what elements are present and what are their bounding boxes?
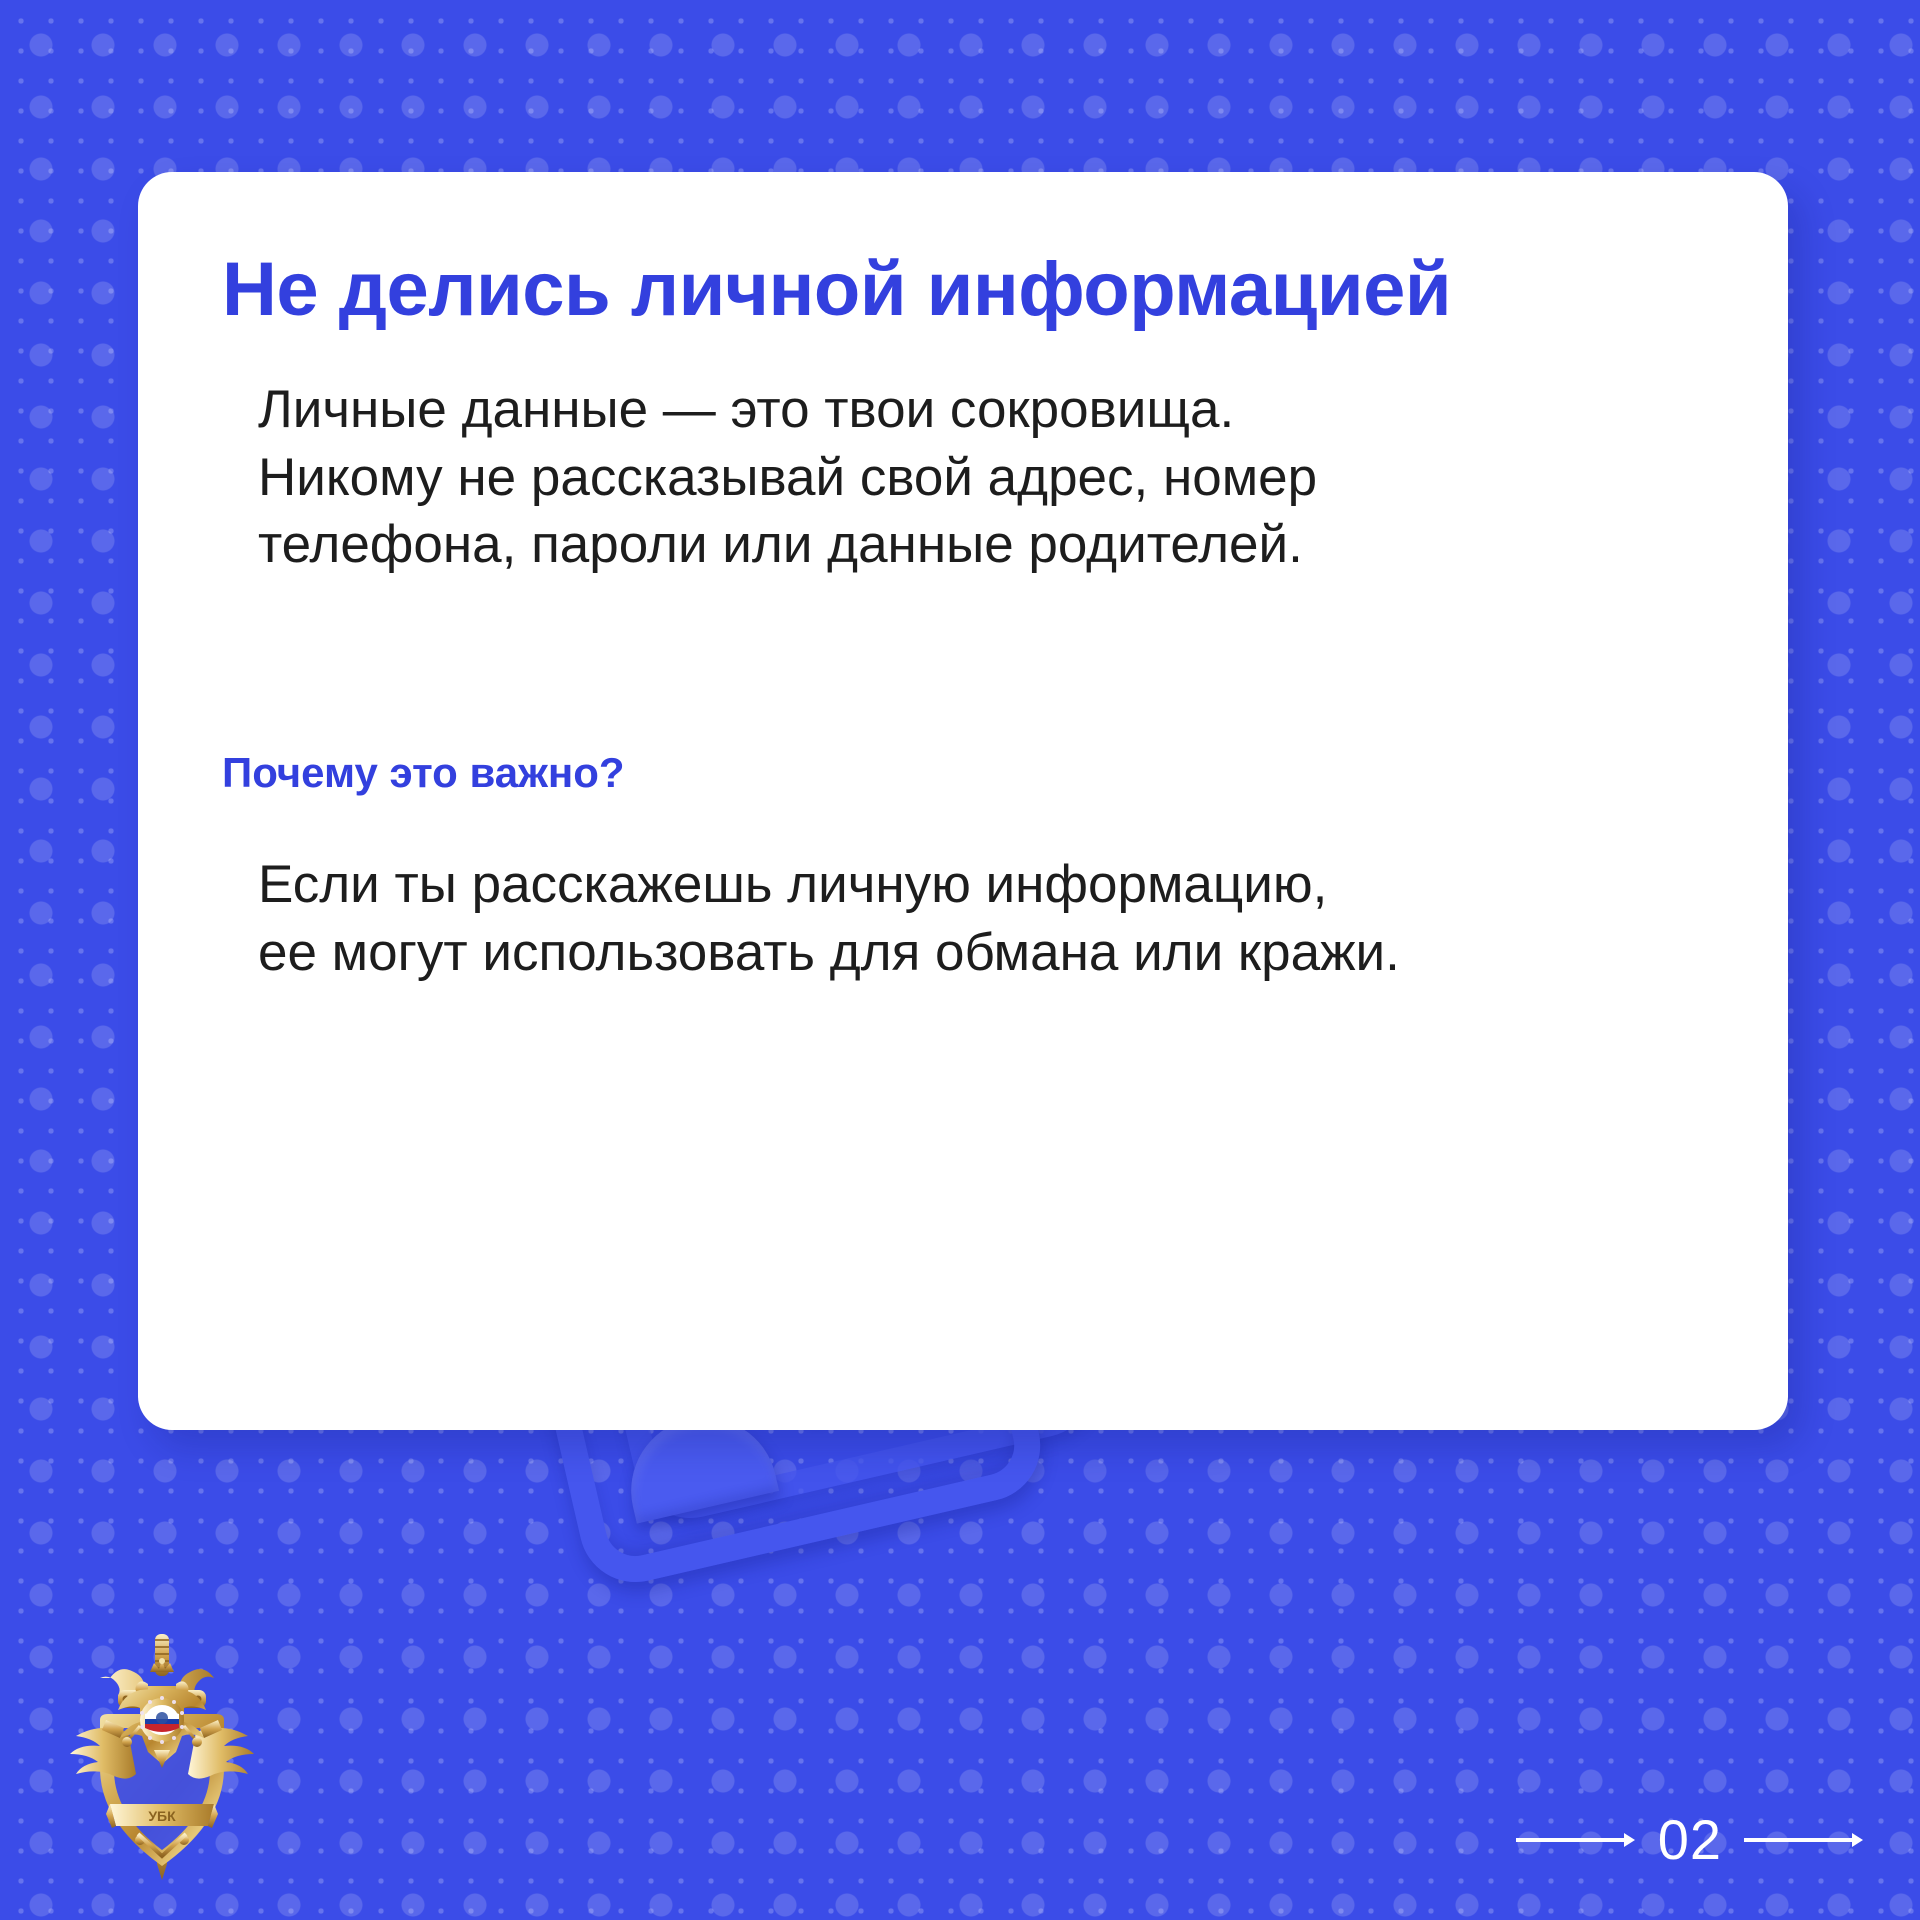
arrow-right-icon [1516, 1830, 1636, 1850]
content-card: Не делись личной информацией Личные данн… [138, 172, 1788, 1430]
reason-line: ее могут использовать для обмана или кра… [258, 919, 1704, 987]
intro-line: Никому не рассказывай свой адрес, номер [258, 444, 1704, 512]
intro-line: Личные данные — это твои сокровища. [258, 376, 1704, 444]
reason-line: Если ты расскажешь личную информацию, [258, 851, 1704, 919]
reason-paragraph: Если ты расскажешь личную информацию, ее… [222, 851, 1704, 987]
emblem-banner-text: УБК [148, 1808, 176, 1824]
page-title: Не делись личной информацией [222, 250, 1704, 330]
ubk-police-emblem: УБК [62, 1628, 262, 1890]
slide-root: Не делись личной информацией Личные данн… [0, 0, 1920, 1920]
page-number: 02 [1658, 1812, 1722, 1868]
pager: 02 [1516, 1812, 1864, 1868]
intro-paragraph: Личные данные — это твои сокровища. Нико… [222, 376, 1704, 579]
arrow-right-icon-trailing [1744, 1830, 1864, 1850]
intro-line: телефона, пароли или данные родителей. [258, 511, 1704, 579]
section-subheading: Почему это важно? [222, 749, 1704, 797]
